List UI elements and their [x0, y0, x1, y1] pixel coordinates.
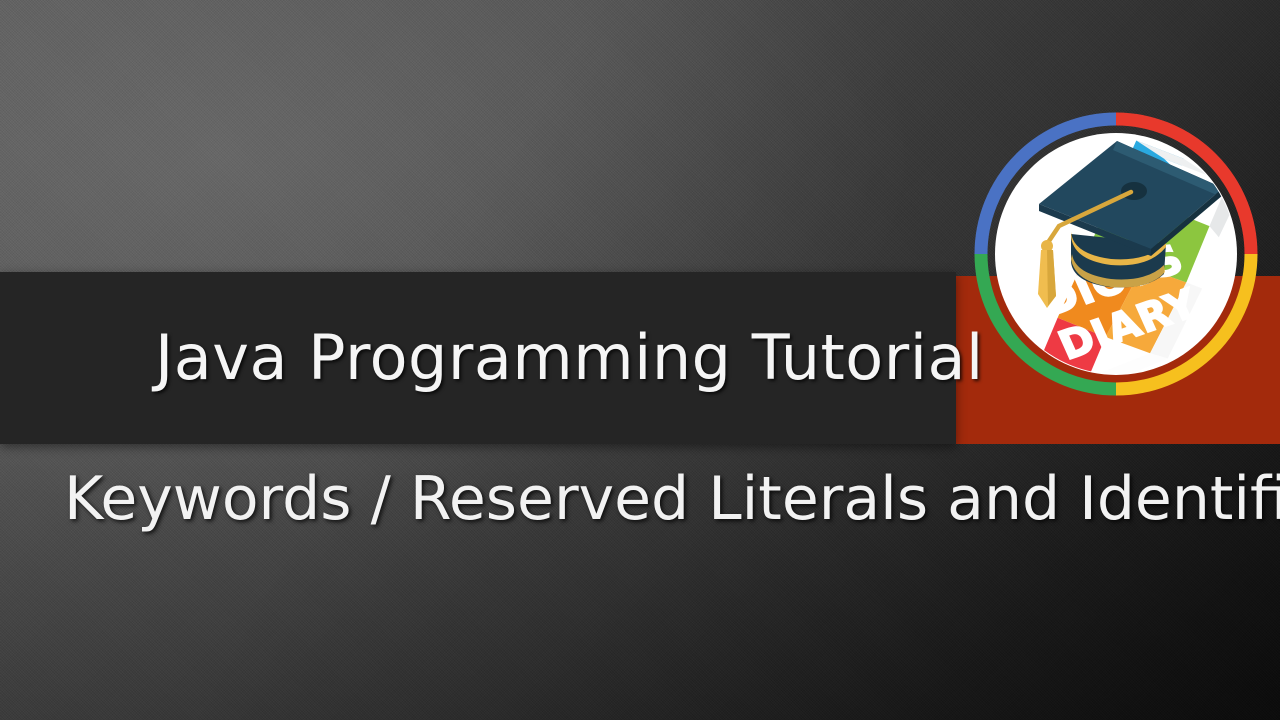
idiots-diary-logo: IDIOTS DIARY: [955, 84, 1280, 444]
title-band: Java Programming Tutorial: [0, 272, 956, 444]
page-subtitle: Keywords / Reserved Literals and Identif…: [64, 466, 1244, 533]
logo-graphic: IDIOTS DIARY: [961, 84, 1271, 424]
slide-canvas: IDIOTS DIARY: [0, 0, 1280, 720]
page-title: Java Programming Tutorial: [155, 327, 984, 389]
